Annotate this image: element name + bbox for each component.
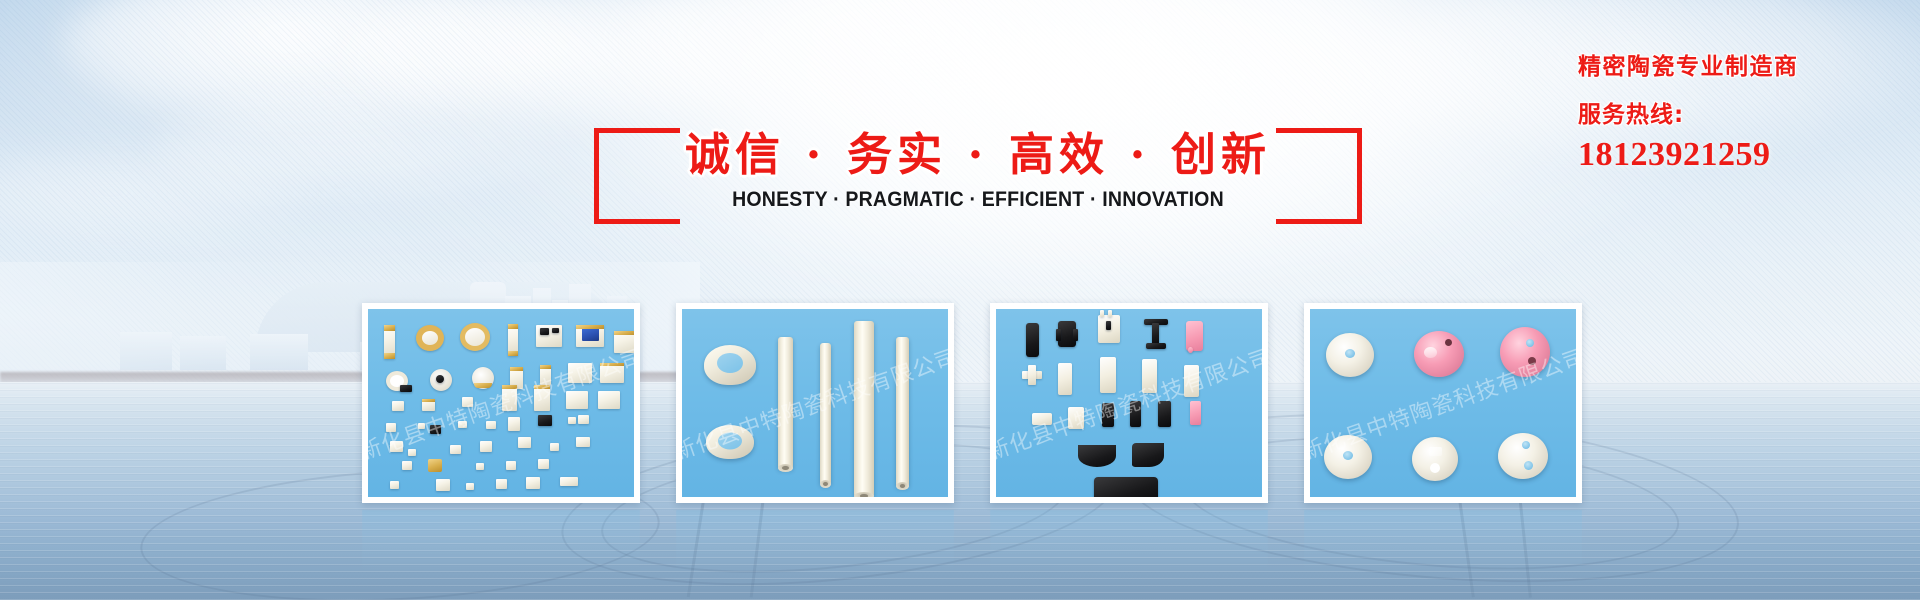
ceramic-collar	[706, 425, 754, 459]
product-photo-ceramic-tubes: 新化县中特陶瓷科技有限公司	[682, 309, 948, 497]
ceramic-tube	[896, 337, 909, 487]
product-photo-structural-parts: 新化县中特陶瓷科技有限公司	[996, 309, 1262, 497]
ceramic-collar	[704, 345, 756, 385]
ceramic-tube	[820, 343, 831, 485]
ceramic-tube	[778, 337, 793, 469]
product-gallery: 新化县中特陶瓷科技有限公司 新化县中特陶瓷科技有限公司	[0, 0, 1920, 600]
ceramic-disc	[1498, 433, 1548, 479]
product-panel-4[interactable]: 新化县中特陶瓷科技有限公司	[1304, 303, 1582, 503]
promo-banner: 诚信 · 务实 · 高效 · 创新 HONESTY · PRAGMATIC · …	[0, 0, 1920, 600]
product-panel-1[interactable]: 新化县中特陶瓷科技有限公司	[362, 303, 640, 503]
product-panel-3[interactable]: 新化县中特陶瓷科技有限公司	[990, 303, 1268, 503]
image-watermark: 新化县中特陶瓷科技有限公司	[996, 339, 1262, 467]
ceramic-disc	[1414, 331, 1464, 377]
product-photo-chip-components: 新化县中特陶瓷科技有限公司	[368, 309, 634, 497]
product-photo-ceramic-discs: 新化县中特陶瓷科技有限公司	[1310, 309, 1576, 497]
image-watermark: 新化县中特陶瓷科技有限公司	[368, 339, 634, 467]
product-panel-2[interactable]: 新化县中特陶瓷科技有限公司	[676, 303, 954, 503]
ceramic-tube	[854, 321, 874, 497]
ceramic-disc	[1500, 327, 1550, 377]
ceramic-disc	[1326, 333, 1374, 377]
ceramic-disc	[1412, 437, 1458, 481]
ceramic-disc	[1324, 435, 1372, 479]
